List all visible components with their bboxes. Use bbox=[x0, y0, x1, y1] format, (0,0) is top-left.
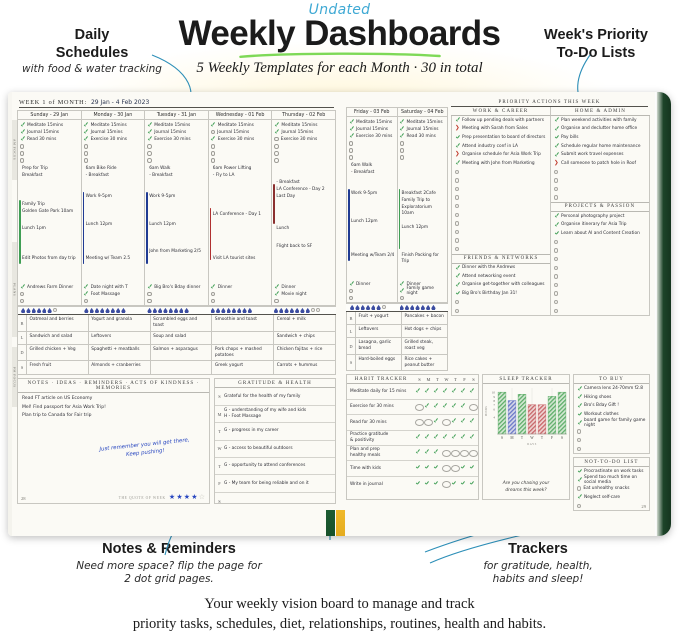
habit-cell[interactable] bbox=[469, 419, 478, 426]
water-drop-filled[interactable] bbox=[90, 308, 94, 313]
meal-cell[interactable]: Rice cakes + peanut butter bbox=[402, 355, 447, 371]
water-drop-empty[interactable] bbox=[316, 308, 320, 312]
action-item[interactable]: Attend networking event bbox=[452, 272, 550, 281]
checklist-item[interactable]: Journal 15mins bbox=[274, 129, 333, 136]
checklist-item[interactable]: Exercise 30 mins bbox=[349, 133, 395, 140]
star-icon[interactable]: ★ bbox=[191, 494, 197, 501]
water-drop-filled[interactable] bbox=[116, 308, 120, 313]
water-cell-1[interactable] bbox=[82, 308, 144, 313]
habit-cell[interactable] bbox=[433, 388, 442, 395]
water-drop-filled[interactable] bbox=[248, 308, 252, 313]
water-drop-filled[interactable] bbox=[410, 305, 414, 310]
action-item[interactable] bbox=[551, 272, 649, 281]
habit-cell[interactable] bbox=[424, 419, 433, 426]
meal-cell[interactable]: Soup and salad bbox=[151, 332, 213, 344]
checkbox-empty[interactable] bbox=[554, 300, 558, 304]
habit-cell[interactable] bbox=[424, 481, 433, 488]
checkbox-empty[interactable] bbox=[554, 178, 558, 182]
water-drop-filled[interactable] bbox=[179, 308, 183, 313]
checklist-item[interactable]: Movie night bbox=[274, 291, 333, 298]
habit-cell[interactable] bbox=[424, 465, 433, 472]
checklist-item[interactable] bbox=[20, 291, 79, 298]
list-item[interactable]: Eat unhealthy snacks bbox=[574, 484, 649, 493]
checklist-item[interactable] bbox=[20, 298, 79, 305]
action-item[interactable]: Attend industry conf in LA bbox=[452, 142, 550, 151]
day-agenda[interactable]: 6am Power Lifting- Fly to LALA Conferenc… bbox=[209, 164, 272, 282]
checklist-item[interactable]: Exercise 30 mins bbox=[147, 136, 206, 143]
habit-cell[interactable] bbox=[424, 388, 433, 395]
meal-cell[interactable]: Hot dogs + chips bbox=[402, 325, 447, 337]
checklist-item[interactable] bbox=[274, 143, 333, 150]
checkbox-empty[interactable] bbox=[20, 144, 24, 148]
water-cell-3[interactable] bbox=[209, 308, 271, 313]
meal-cell[interactable]: Grilled steak, roast veg bbox=[402, 338, 447, 354]
water-drop-empty[interactable] bbox=[311, 308, 315, 312]
gratitude-row[interactable]: WG - access to beautiful outdoors bbox=[215, 441, 335, 458]
meal-cell[interactable]: Yogurt and granola bbox=[89, 315, 151, 331]
water-drop-filled[interactable] bbox=[184, 308, 188, 313]
checklist-item[interactable]: Journal 15mins bbox=[211, 129, 270, 136]
habit-cell[interactable] bbox=[442, 434, 451, 441]
action-item[interactable] bbox=[551, 255, 649, 264]
habit-cell[interactable] bbox=[442, 419, 451, 426]
checkbox-empty[interactable] bbox=[455, 195, 459, 199]
action-item[interactable] bbox=[452, 228, 550, 237]
action-item[interactable]: Prep presentation to board of directors bbox=[452, 133, 550, 142]
checklist-item[interactable] bbox=[147, 157, 206, 164]
meal-cell[interactable]: Carrots + hummus bbox=[274, 361, 335, 374]
checkbox-empty[interactable] bbox=[211, 144, 215, 148]
water-drop-filled[interactable] bbox=[242, 308, 246, 313]
meal-cell[interactable]: Almonds + cranberries bbox=[89, 361, 151, 374]
checkbox-empty[interactable] bbox=[147, 299, 151, 303]
meal-cell[interactable] bbox=[151, 361, 213, 374]
checklist-item[interactable] bbox=[400, 147, 446, 154]
checklist-item[interactable]: Big Bro's Bday dinner bbox=[147, 284, 206, 291]
checklist-item[interactable] bbox=[147, 150, 206, 157]
habit-cell[interactable] bbox=[469, 465, 478, 472]
checkbox-empty[interactable] bbox=[84, 299, 88, 303]
action-item[interactable] bbox=[452, 193, 550, 202]
checkbox-empty[interactable] bbox=[455, 187, 459, 191]
checklist-item[interactable]: Read 30 mins bbox=[20, 136, 79, 143]
water-drop-filled[interactable] bbox=[279, 308, 283, 313]
habit-cell[interactable] bbox=[469, 404, 478, 411]
checkbox-empty[interactable] bbox=[554, 266, 558, 270]
water-drop-filled[interactable] bbox=[431, 305, 435, 310]
checklist-item[interactable] bbox=[211, 298, 270, 305]
water-drop-filled[interactable] bbox=[21, 308, 25, 313]
habit-cell[interactable] bbox=[469, 481, 478, 488]
habit-cell[interactable] bbox=[451, 419, 460, 426]
checklist-item[interactable] bbox=[20, 157, 79, 164]
checklist-item[interactable]: Family game night bbox=[400, 288, 446, 295]
habit-cell[interactable] bbox=[451, 465, 460, 472]
list-item[interactable] bbox=[574, 502, 649, 511]
checkbox-empty[interactable] bbox=[577, 429, 581, 433]
action-item[interactable]: Organise itinerary for Asia Trip bbox=[551, 221, 649, 230]
list-item[interactable]: Bro's Bday Gift ! bbox=[574, 402, 649, 411]
water-drop-filled[interactable] bbox=[95, 308, 99, 313]
water-drop-filled[interactable] bbox=[32, 308, 36, 313]
checkbox-empty[interactable] bbox=[577, 447, 581, 451]
action-item[interactable] bbox=[452, 298, 550, 307]
action-item[interactable] bbox=[551, 185, 649, 194]
checklist-item[interactable] bbox=[84, 157, 143, 164]
water-drop-filled[interactable] bbox=[211, 308, 215, 313]
habit-cell[interactable] bbox=[442, 450, 451, 457]
star-icon[interactable]: ★ bbox=[184, 494, 190, 501]
water-drop-filled[interactable] bbox=[284, 308, 288, 313]
habit-cell[interactable] bbox=[460, 404, 469, 411]
gratitude-row[interactable]: TG - opportunity to attend conferences bbox=[215, 458, 335, 475]
checklist-item[interactable]: Meditate 15mins bbox=[147, 122, 206, 129]
checkbox-empty[interactable] bbox=[211, 292, 215, 296]
gratitude-row[interactable]: FG - My team for being reliable and on i… bbox=[215, 475, 335, 492]
habit-cell[interactable] bbox=[451, 481, 460, 488]
action-item[interactable] bbox=[452, 202, 550, 211]
water-drop-filled[interactable] bbox=[426, 305, 430, 310]
habit-cell[interactable] bbox=[460, 481, 469, 488]
habit-cell[interactable] bbox=[415, 465, 424, 472]
habit-cell[interactable] bbox=[442, 481, 451, 488]
checklist-item[interactable]: Journal 15mins bbox=[84, 129, 143, 136]
checkbox-empty[interactable] bbox=[84, 158, 88, 162]
meal-cell[interactable]: Scrambled eggs and toast bbox=[151, 315, 213, 331]
checklist-item[interactable]: Journal 15mins bbox=[349, 126, 395, 133]
list-item[interactable] bbox=[574, 445, 649, 454]
checklist-item[interactable] bbox=[211, 143, 270, 150]
checkbox-empty[interactable] bbox=[554, 195, 558, 199]
meal-cell[interactable]: Lasagna, garlic bread bbox=[356, 338, 402, 354]
meal-cell[interactable]: Spaghetti + meatballs bbox=[89, 345, 151, 361]
action-item[interactable] bbox=[551, 281, 649, 290]
checkbox-empty[interactable] bbox=[349, 148, 353, 152]
checklist-item[interactable]: Read 30 mins bbox=[400, 133, 446, 140]
water-drop-filled[interactable] bbox=[421, 305, 425, 310]
action-item[interactable] bbox=[452, 236, 550, 245]
checklist-item[interactable]: Dinner bbox=[274, 284, 333, 291]
gratitude-row[interactable]: SGrateful for the health of my family bbox=[215, 388, 335, 405]
checkbox-empty[interactable] bbox=[554, 283, 558, 287]
week-rating[interactable]: THE QUOTE OF WEEK ★★★★☆ bbox=[119, 494, 205, 501]
checklist-item[interactable]: Meditate 15mins bbox=[349, 119, 395, 126]
checkbox-empty[interactable] bbox=[455, 309, 459, 313]
left-water-tracker[interactable] bbox=[17, 306, 336, 315]
checkbox-empty[interactable] bbox=[577, 504, 581, 508]
water-drop-filled[interactable] bbox=[47, 308, 51, 313]
checkbox-empty[interactable] bbox=[20, 151, 24, 155]
checklist-item[interactable] bbox=[349, 295, 395, 302]
meal-cell[interactable]: Leftovers bbox=[89, 332, 151, 344]
meal-cell[interactable]: Fresh fruit bbox=[27, 361, 89, 374]
habit-cell[interactable] bbox=[433, 465, 442, 472]
water-cell-1[interactable] bbox=[398, 305, 447, 310]
checkbox-empty[interactable] bbox=[274, 137, 278, 141]
habit-cell[interactable] bbox=[469, 434, 478, 441]
action-item[interactable] bbox=[551, 176, 649, 185]
water-drop-filled[interactable] bbox=[174, 308, 178, 313]
checkbox-empty[interactable] bbox=[400, 141, 404, 145]
to-buy-items[interactable]: Camera lens 24-70mm f2.8Hiking shoesBro'… bbox=[574, 384, 649, 453]
checklist-item[interactable] bbox=[349, 147, 395, 154]
checkbox-empty[interactable] bbox=[455, 300, 459, 304]
action-item[interactable]: Meeting with John from Marketing bbox=[452, 159, 550, 168]
checklist-item[interactable] bbox=[84, 150, 143, 157]
checkbox-empty[interactable] bbox=[455, 221, 459, 225]
day-agenda[interactable]: Prep for TripBreakfastFamily TripGolden … bbox=[18, 164, 81, 282]
note-line[interactable]: Plan trip to Canada for Fair trip bbox=[18, 412, 209, 420]
action-item[interactable]: ❯Organise schedule for Asia Work Trip bbox=[452, 150, 550, 159]
action-item[interactable]: Submit work travel expenses bbox=[551, 150, 649, 159]
checkbox-empty[interactable] bbox=[554, 170, 558, 174]
checkbox-empty[interactable] bbox=[455, 230, 459, 234]
not-to-do-items[interactable]: Procrastinate on work tasksSpend too muc… bbox=[574, 467, 649, 510]
habit-cell[interactable] bbox=[424, 450, 433, 457]
water-drop-filled[interactable] bbox=[169, 308, 173, 313]
water-drop-filled[interactable] bbox=[295, 308, 299, 313]
habit-cell[interactable] bbox=[460, 465, 469, 472]
checkbox-empty[interactable] bbox=[147, 292, 151, 296]
water-drop-filled[interactable] bbox=[290, 308, 294, 313]
water-drop-filled[interactable] bbox=[121, 308, 125, 313]
meal-cell[interactable]: Salmon + asparagus bbox=[151, 345, 213, 361]
action-item[interactable]: Dinner with the Andrews bbox=[452, 264, 550, 273]
action-item[interactable]: ❯Call someone to patch hole in Roof bbox=[551, 159, 649, 168]
habit-cell[interactable] bbox=[451, 388, 460, 395]
checklist-item[interactable] bbox=[349, 140, 395, 147]
habit-cell[interactable] bbox=[433, 419, 442, 426]
water-drop-filled[interactable] bbox=[300, 308, 304, 313]
checklist-item[interactable] bbox=[147, 291, 206, 298]
habit-cell[interactable] bbox=[424, 434, 433, 441]
water-drop-filled[interactable] bbox=[26, 308, 30, 313]
checkbox-empty[interactable] bbox=[554, 291, 558, 295]
water-drop-empty[interactable] bbox=[382, 305, 386, 309]
checklist-item[interactable]: Meditate 15mins bbox=[84, 122, 143, 129]
water-drop-filled[interactable] bbox=[42, 308, 46, 313]
gratitude-row[interactable]: S bbox=[215, 493, 335, 510]
checkbox-empty[interactable] bbox=[147, 158, 151, 162]
day-agenda[interactable]: 6am Walk- BreakfastWork 9-5pmLunch 12pmJ… bbox=[145, 164, 208, 282]
star-row[interactable]: ★★★★☆ bbox=[169, 494, 205, 501]
checkbox-empty[interactable] bbox=[349, 296, 353, 300]
meal-cell[interactable]: Smoothie and toast bbox=[212, 315, 274, 331]
list-item[interactable]: Camera lens 24-70mm f2.8 bbox=[574, 384, 649, 393]
water-drop-filled[interactable] bbox=[147, 308, 151, 313]
checklist-item[interactable] bbox=[147, 298, 206, 305]
checklist-item[interactable]: Meditate 15mins bbox=[20, 122, 79, 129]
checkbox-empty[interactable] bbox=[455, 238, 459, 242]
water-drop-filled[interactable] bbox=[274, 308, 278, 313]
meal-cell[interactable]: Greek yogurt bbox=[212, 361, 274, 374]
checklist-item[interactable] bbox=[274, 157, 333, 164]
checklist-item[interactable]: Andrews Farm Dinner bbox=[20, 284, 79, 291]
meal-cell[interactable]: Fruit + yogurt bbox=[356, 312, 402, 324]
water-drop-filled[interactable] bbox=[221, 308, 225, 313]
checklist-item[interactable] bbox=[211, 157, 270, 164]
checklist-item[interactable]: Date night with T bbox=[84, 284, 143, 291]
water-drop-filled[interactable] bbox=[153, 308, 157, 313]
meal-cell[interactable]: Cereal + milk bbox=[274, 315, 335, 331]
meal-cell[interactable]: Chicken fajitas + rice bbox=[274, 345, 335, 361]
action-item[interactable]: Big Bro's Birthday Jan 31! bbox=[452, 289, 550, 298]
action-item[interactable] bbox=[551, 306, 649, 315]
checkbox-empty[interactable] bbox=[400, 148, 404, 152]
checkbox-empty[interactable] bbox=[400, 296, 404, 300]
checklist-item[interactable] bbox=[274, 150, 333, 157]
checkbox-empty[interactable] bbox=[455, 204, 459, 208]
water-drop-filled[interactable] bbox=[227, 308, 231, 313]
checkbox-empty[interactable] bbox=[455, 247, 459, 251]
meal-cell[interactable]: Sandwich + chips bbox=[274, 332, 335, 344]
water-drop-filled[interactable] bbox=[361, 305, 365, 310]
list-item[interactable]: Neglect self-care bbox=[574, 493, 649, 502]
water-drop-filled[interactable] bbox=[216, 308, 220, 313]
checklist-item[interactable]: Journal 15mins bbox=[400, 126, 446, 133]
habit-cell[interactable] bbox=[460, 419, 469, 426]
water-drop-filled[interactable] bbox=[37, 308, 41, 313]
checkbox-empty[interactable] bbox=[349, 155, 353, 159]
checkbox-empty[interactable] bbox=[274, 158, 278, 162]
note-line[interactable]: Read FT article on US Economy bbox=[18, 395, 209, 403]
water-drop-filled[interactable] bbox=[350, 305, 354, 310]
water-drop-filled[interactable] bbox=[158, 308, 162, 313]
water-drop-filled[interactable] bbox=[355, 305, 359, 310]
habit-cell[interactable] bbox=[415, 388, 424, 395]
checkbox-empty[interactable] bbox=[349, 141, 353, 145]
checkbox-empty[interactable] bbox=[211, 130, 215, 134]
water-cell-2[interactable] bbox=[145, 308, 207, 313]
checkbox-empty[interactable] bbox=[554, 309, 558, 313]
habit-cell[interactable] bbox=[460, 388, 469, 395]
water-drop-filled[interactable] bbox=[306, 308, 310, 313]
habit-cell[interactable] bbox=[460, 450, 469, 457]
action-item[interactable]: Organise and declutter home office bbox=[551, 125, 649, 134]
water-drop-empty[interactable] bbox=[53, 308, 57, 312]
checkbox-empty[interactable] bbox=[554, 187, 558, 191]
checkbox-empty[interactable] bbox=[554, 248, 558, 252]
habit-cell[interactable] bbox=[469, 450, 478, 457]
checklist-item[interactable] bbox=[147, 143, 206, 150]
action-item[interactable] bbox=[452, 168, 550, 177]
water-drop-filled[interactable] bbox=[376, 305, 380, 310]
habit-cell[interactable] bbox=[424, 404, 433, 411]
checklist-item[interactable]: Journal 15mins bbox=[20, 129, 79, 136]
habit-cell[interactable] bbox=[469, 388, 478, 395]
water-drop-filled[interactable] bbox=[105, 308, 109, 313]
list-item[interactable]: Hiking shoes bbox=[574, 393, 649, 402]
action-item[interactable] bbox=[551, 193, 649, 202]
checkbox-empty[interactable] bbox=[400, 155, 404, 159]
list-item[interactable]: board game for family game night bbox=[574, 419, 649, 428]
checkbox-empty[interactable] bbox=[274, 144, 278, 148]
checkbox-empty[interactable] bbox=[554, 274, 558, 278]
right-water-tracker[interactable] bbox=[346, 303, 448, 312]
habit-cell[interactable] bbox=[451, 434, 460, 441]
water-drop-filled[interactable] bbox=[415, 305, 419, 310]
habit-cell[interactable] bbox=[442, 404, 451, 411]
action-item[interactable]: Organise get-together with colleagues bbox=[452, 281, 550, 290]
day-agenda[interactable]: - BreakfastLA Conference - Day 2Last Day… bbox=[272, 164, 335, 282]
action-item[interactable] bbox=[551, 264, 649, 273]
water-cell-0[interactable] bbox=[19, 308, 81, 313]
action-item[interactable]: Personal photography project bbox=[551, 212, 649, 221]
meal-cell[interactable]: Pork chops + mashed potatoes bbox=[212, 345, 274, 361]
action-item[interactable]: Follow up pending deals with partners bbox=[452, 116, 550, 125]
checklist-item[interactable]: Meditate 15mins bbox=[274, 122, 333, 129]
checklist-item[interactable] bbox=[84, 143, 143, 150]
action-item[interactable] bbox=[551, 168, 649, 177]
checkbox-empty[interactable] bbox=[274, 299, 278, 303]
checklist-item[interactable]: Journal 15mins bbox=[147, 129, 206, 136]
day-agenda[interactable]: 6am Walk- BreakfastWork 9-5pmLunch 12pmM… bbox=[347, 161, 397, 279]
checkbox-empty[interactable] bbox=[84, 144, 88, 148]
checklist-item[interactable] bbox=[211, 291, 270, 298]
action-item[interactable] bbox=[452, 176, 550, 185]
water-drop-filled[interactable] bbox=[232, 308, 236, 313]
action-item[interactable] bbox=[452, 211, 550, 220]
action-item[interactable] bbox=[452, 306, 550, 315]
checklist-item[interactable] bbox=[400, 154, 446, 161]
list-item[interactable] bbox=[574, 436, 649, 445]
star-icon[interactable]: ☆ bbox=[199, 494, 205, 501]
action-item[interactable]: Pay bills bbox=[551, 133, 649, 142]
water-drop-filled[interactable] bbox=[366, 305, 370, 310]
habit-rows[interactable]: Meditate daily for 15 minsExercise for 3… bbox=[347, 384, 478, 492]
habit-cell[interactable] bbox=[415, 404, 424, 411]
checklist-item[interactable]: Foot Massage bbox=[84, 291, 143, 298]
habit-cell[interactable] bbox=[433, 481, 442, 488]
list-item[interactable] bbox=[574, 427, 649, 436]
day-agenda[interactable]: Breakfast 2CafeFamily Trip toExploratori… bbox=[398, 161, 448, 279]
meal-cell[interactable] bbox=[212, 332, 274, 344]
water-drop-filled[interactable] bbox=[371, 305, 375, 310]
checkbox-empty[interactable] bbox=[20, 292, 24, 296]
action-item[interactable] bbox=[452, 245, 550, 254]
checklist-item[interactable]: Dinner bbox=[211, 284, 270, 291]
habit-cell[interactable] bbox=[415, 450, 424, 457]
checklist-item[interactable]: Exercise 30 mins bbox=[274, 136, 333, 143]
meal-cell[interactable]: Sandwich and salad bbox=[27, 332, 89, 344]
checkbox-empty[interactable] bbox=[147, 144, 151, 148]
action-item[interactable] bbox=[452, 219, 550, 228]
meal-cell[interactable]: Pancakes + bacon bbox=[402, 312, 447, 324]
checkbox-empty[interactable] bbox=[349, 289, 353, 293]
list-item[interactable]: Spend too much time on social media bbox=[574, 476, 649, 485]
checkbox-empty[interactable] bbox=[211, 158, 215, 162]
water-drop-filled[interactable] bbox=[100, 308, 104, 313]
checklist-item[interactable]: Dinner bbox=[349, 281, 395, 288]
checkbox-empty[interactable] bbox=[577, 486, 581, 490]
checklist-item[interactable] bbox=[400, 140, 446, 147]
notes-lines[interactable]: Read FT article on US EconomyMel! Find p… bbox=[18, 393, 209, 420]
action-item[interactable]: ❯Meeting with Sarah from Sales bbox=[452, 125, 550, 134]
water-cell-0[interactable] bbox=[348, 305, 397, 310]
water-cell-4[interactable] bbox=[272, 308, 334, 313]
checkbox-empty[interactable] bbox=[274, 151, 278, 155]
habit-cell[interactable] bbox=[415, 419, 424, 426]
action-item[interactable]: Learn about AI and Content Creation bbox=[551, 229, 649, 238]
checkbox-empty[interactable] bbox=[147, 151, 151, 155]
checklist-item[interactable]: Exercise 30 mins bbox=[211, 136, 270, 143]
action-item[interactable] bbox=[551, 289, 649, 298]
checkbox-empty[interactable] bbox=[554, 257, 558, 261]
water-drop-filled[interactable] bbox=[405, 305, 409, 310]
checkbox-empty[interactable] bbox=[211, 151, 215, 155]
checklist-item[interactable] bbox=[84, 298, 143, 305]
meal-cell[interactable]: Leftovers bbox=[356, 325, 402, 337]
